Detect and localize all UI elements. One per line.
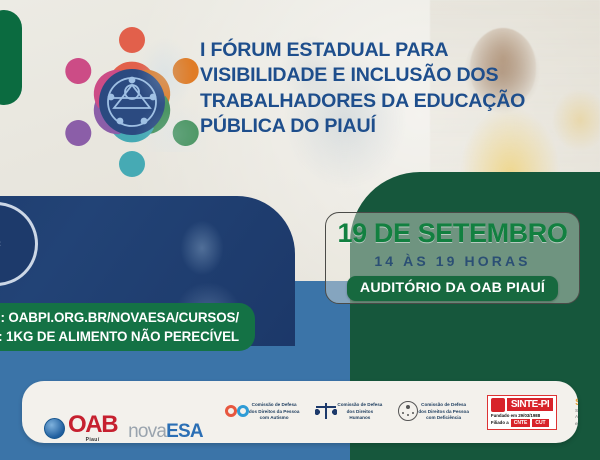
badge-line-2: ia: xyxy=(0,239,1,249)
decorative-green-tab xyxy=(0,10,22,105)
logo-sinte-pi: SINTE-PI Fundado em 29/03/1988 Filiado a… xyxy=(487,381,557,443)
def-line-2: dos Direitos da Pessoa xyxy=(418,409,469,416)
dh-line-1: Comissão de Defesa xyxy=(337,402,382,409)
headline-line-4: PÚBLICA DO PIAUÍ xyxy=(200,114,590,139)
sinte-chip-cut: CUT xyxy=(532,419,548,427)
event-date-card: 19 DE SETEMBRO 14 ÀS 19 HORAS AUDITÓRIO … xyxy=(325,212,580,304)
headline-line-3: TRABALHADORES DA EDUCAÇÃO xyxy=(200,89,590,114)
logo-nova-esa: novaESA xyxy=(128,421,203,443)
logo-direitos-humanos: Comissão de Defesa dos Direitos Humanos xyxy=(315,381,382,443)
scales-icon xyxy=(315,403,337,419)
autismo-line-3: com Autismo xyxy=(249,415,300,422)
logo-pessoa-deficiencia: Comissão de Defesa dos Direitos da Pesso… xyxy=(398,381,469,443)
sinte-wordmark: SINTE-PI xyxy=(507,398,553,411)
partner-logo-bar: OAB Piauí novaESA Comissão de Defesa dos… xyxy=(22,381,578,443)
registration-url-line: : OABPI.ORG.BR/NOVAESA/CURSOS/ xyxy=(0,308,239,327)
nova-word: nova xyxy=(128,421,166,442)
page-title: I FÓRUM ESTADUAL PARA VISIBILIDADE E INC… xyxy=(200,38,590,139)
sinte-affiliate-label: Filiado a xyxy=(491,420,509,425)
def-line-1: Comissão de Defesa xyxy=(418,402,469,409)
semcaspi-wordmark: SEMCASPI xyxy=(575,397,578,408)
raised-fist-icon xyxy=(491,398,505,412)
registration-info-box: : OABPI.ORG.BR/NOVAESA/CURSOS/ NTO: 1KG … xyxy=(0,303,255,351)
event-date: 19 DE SETEMBRO xyxy=(338,220,568,247)
accessibility-icon xyxy=(398,401,418,421)
semcaspi-line-2: Assistência Social xyxy=(575,414,578,421)
globe-icon xyxy=(44,418,65,439)
logo-comissao-autismo: Comissão de Defesa dos Direitos da Pesso… xyxy=(225,381,300,443)
event-poster: a ia: a xyxy=(0,0,600,460)
inclusion-people-logo-icon xyxy=(48,18,216,186)
event-hours: 14 ÀS 19 HORAS xyxy=(374,253,530,269)
sinte-chip-cnte: CNTE xyxy=(511,419,531,427)
def-line-3: com Deficiência xyxy=(418,415,469,422)
esa-word: ESA xyxy=(166,421,203,442)
autismo-line-2: dos Direitos da Pessoa xyxy=(249,409,300,416)
semcaspi-line-1: Secretaria Municipal de Cidadania, xyxy=(575,408,578,415)
dh-line-2: dos Direitos xyxy=(337,409,382,416)
event-venue-badge: AUDITÓRIO DA OAB PIAUÍ xyxy=(347,276,558,301)
oab-wordmark: OAB xyxy=(68,414,117,436)
headline-line-2: VISIBILIDADE E INCLUSÃO DOS xyxy=(200,63,590,88)
infinity-icon xyxy=(225,405,249,417)
headline-line-1: I FÓRUM ESTADUAL PARA xyxy=(200,38,590,63)
sinte-founded: Fundado em 29/03/1988 xyxy=(491,413,553,418)
registration-fee-line: NTO: 1KG DE ALIMENTO NÃO PERECÍVEL xyxy=(0,327,239,346)
logo-oab-piaui: OAB Piauí novaESA xyxy=(22,381,203,443)
autismo-line-1: Comissão de Defesa xyxy=(249,402,300,409)
dh-line-3: Humanos xyxy=(337,415,382,422)
